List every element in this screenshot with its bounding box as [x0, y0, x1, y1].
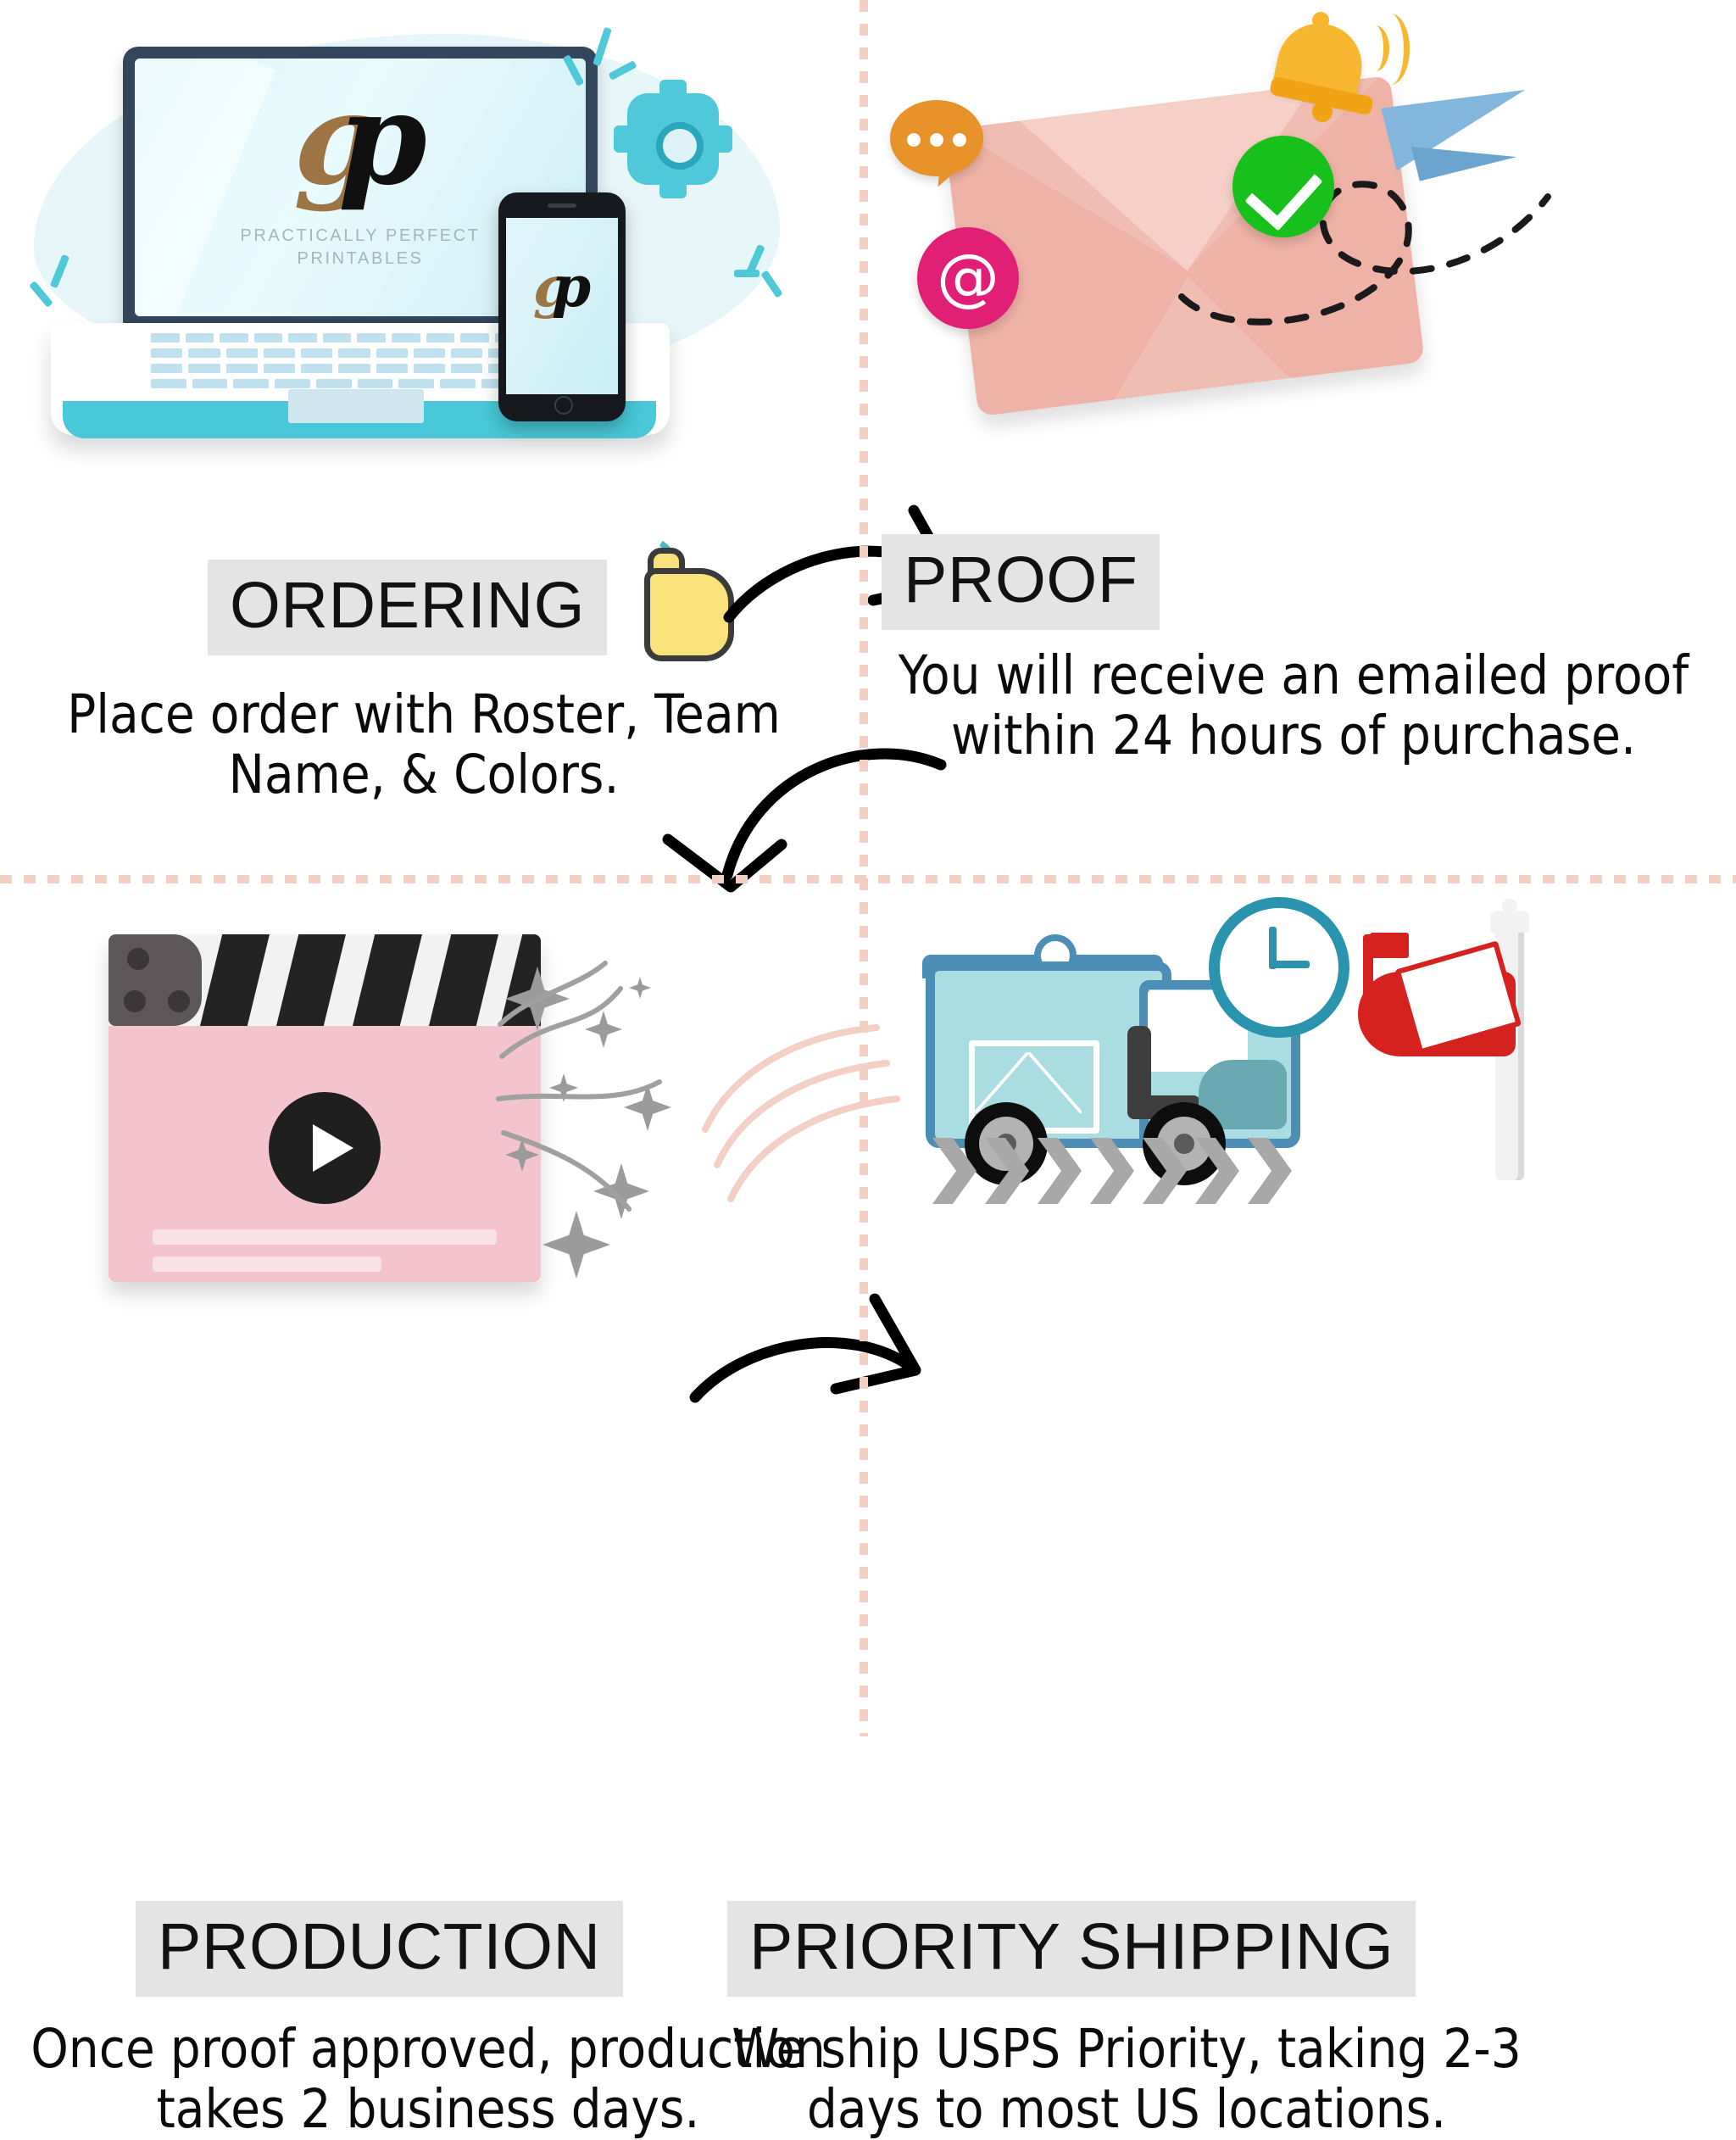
- divider-vertical: [860, 0, 868, 1736]
- phone-speaker: [548, 203, 576, 208]
- check-circle-icon: [1232, 136, 1334, 237]
- phone-home-button: [554, 396, 573, 415]
- step-label-production: PRODUCTION: [136, 1901, 623, 1997]
- step-panel-shipping: PRIORITY SHIPPING We ship USPS Priority,…: [868, 883, 1736, 1736]
- phone-monogram-right-glyph: p: [552, 254, 591, 320]
- laptop-keyboard: [151, 333, 558, 386]
- bell-icon: [1266, 8, 1377, 119]
- sparkle-icon: [734, 270, 759, 277]
- paper-plane-icon: [1387, 81, 1548, 192]
- laptop-trackpad: [288, 389, 424, 423]
- step-label-proof: PROOF: [882, 534, 1160, 630]
- phone-illustration: gp: [498, 192, 626, 421]
- monogram-right-glyph: p: [338, 82, 427, 197]
- gear-icon: [627, 93, 719, 185]
- at-sign-icon: @: [917, 227, 1019, 329]
- step-body-shipping: We ship USPS Priority, taking 2-3 days t…: [690, 2020, 1563, 2139]
- clock-icon: [1209, 897, 1349, 1038]
- clapperboard-icon: [108, 934, 541, 1282]
- step-body-proof: You will receive an emailed proof within…: [860, 646, 1728, 766]
- sparkle-swirls: [493, 955, 714, 1243]
- step-panel-ordering: gp PRACTICALLY PERFECT PRINTABLES: [0, 0, 860, 875]
- phone-monogram: gp: [506, 262, 618, 312]
- step-panel-proof: @ PROOF You will receive an emailed proo…: [868, 0, 1736, 875]
- envelope-illustration: @: [868, 0, 1736, 543]
- divider-horizontal: [0, 875, 1736, 883]
- step-label-shipping: PRIORITY SHIPPING: [727, 1901, 1416, 1997]
- chat-bubble-icon: [890, 100, 983, 176]
- play-button-icon[interactable]: [269, 1092, 381, 1204]
- phone-screen: gp: [506, 218, 618, 394]
- mailbox-icon: [1341, 904, 1561, 1184]
- brand-monogram: gp: [135, 82, 586, 197]
- infographic-canvas: gp PRACTICALLY PERFECT PRINTABLES: [0, 0, 1736, 1736]
- sparkle-icon: [760, 270, 782, 298]
- step-label-ordering: ORDERING: [208, 560, 607, 655]
- laptop-illustration: gp PRACTICALLY PERFECT PRINTABLES: [51, 47, 661, 521]
- clapperboard-body: [108, 1026, 541, 1282]
- clapperboard-top: [108, 934, 541, 1026]
